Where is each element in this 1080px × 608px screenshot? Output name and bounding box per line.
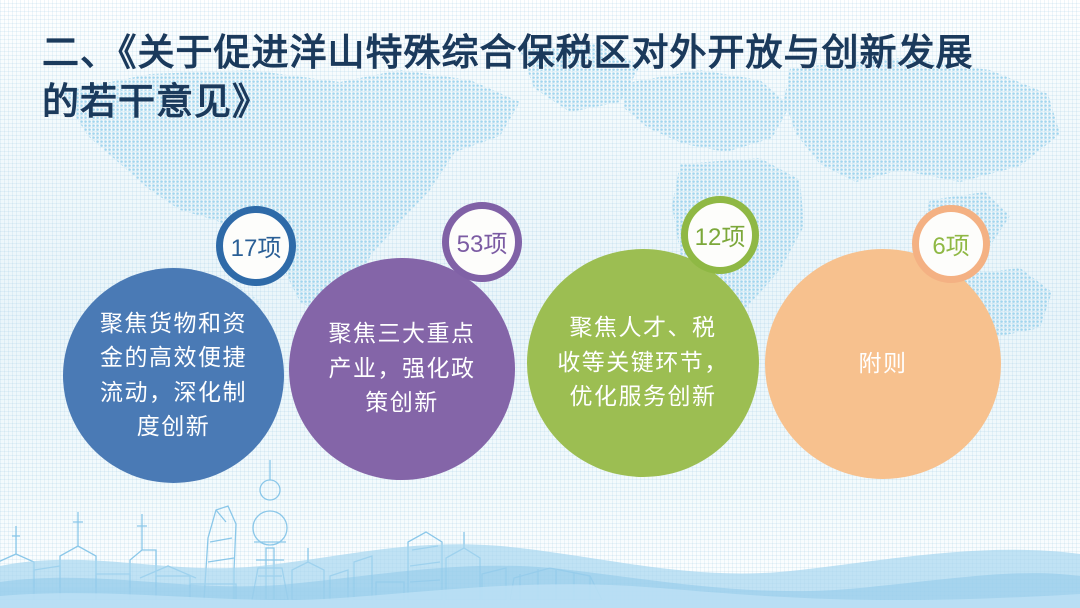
badge-three-industries[interactable]: 53项	[442, 202, 522, 282]
bubble-three-industries[interactable]: 聚焦三大重点 产业，强化政 策创新	[289, 258, 515, 480]
badge-supplementary[interactable]: 6项	[912, 205, 990, 283]
bubble-supplementary[interactable]: 附则	[765, 249, 1001, 479]
bubble-label: 聚焦货物和资 金的高效便捷 流动，深化制 度创新	[100, 307, 247, 445]
bubble-label: 附则	[859, 347, 908, 382]
badge-label: 17项	[231, 228, 282, 263]
bubble-group: 聚焦货物和资 金的高效便捷 流动，深化制 度创新 17项 聚焦三大重点 产业，强…	[0, 0, 1080, 608]
badge-label: 53项	[457, 224, 508, 259]
badge-talent-tax[interactable]: 12项	[681, 196, 759, 274]
slide-root: 二、《关于促进洋山特殊综合保税区对外开放与创新发展 的若干意见》 聚焦货物和资 …	[0, 0, 1080, 608]
badge-label: 12项	[695, 217, 746, 252]
bubble-label: 聚焦三大重点 产业，强化政 策创新	[329, 317, 476, 421]
badge-goods-capital[interactable]: 17项	[216, 206, 296, 286]
bubble-label: 聚焦人才、税 收等关键环节， 优化服务创新	[557, 311, 729, 415]
bubble-goods-capital[interactable]: 聚焦货物和资 金的高效便捷 流动，深化制 度创新	[63, 268, 284, 483]
bubble-talent-tax[interactable]: 聚焦人才、税 收等关键环节， 优化服务创新	[527, 249, 759, 477]
badge-label: 6项	[932, 226, 969, 261]
